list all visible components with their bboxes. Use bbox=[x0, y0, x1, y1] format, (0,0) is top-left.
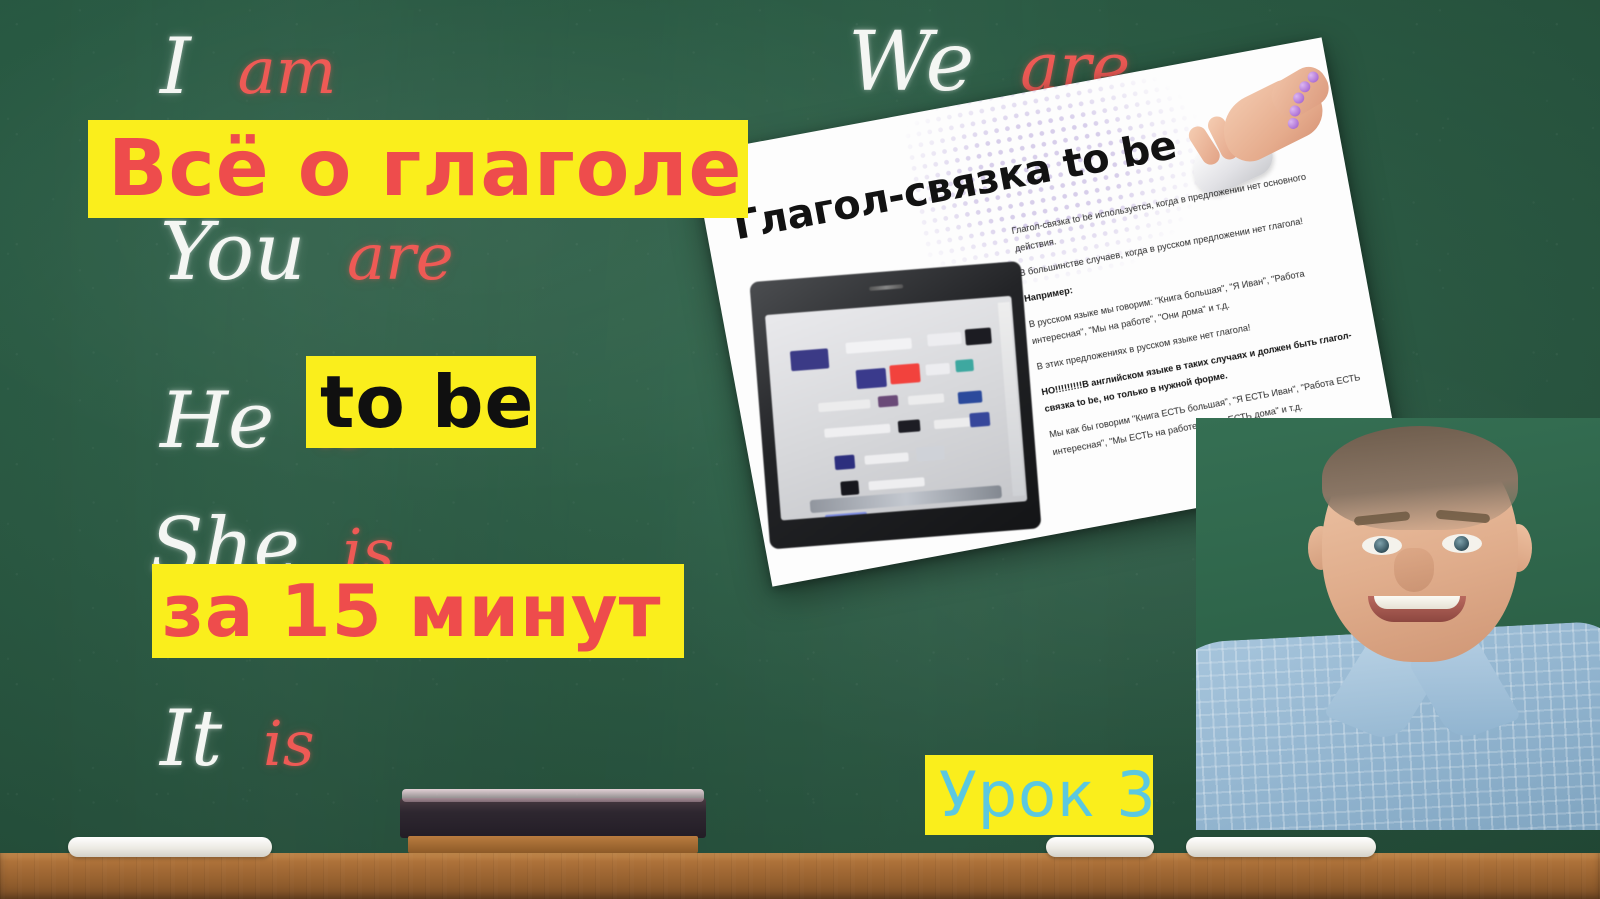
ui-block bbox=[955, 359, 974, 372]
ui-block bbox=[868, 477, 925, 490]
iris-left bbox=[1374, 538, 1389, 553]
verb-banner: to be bbox=[306, 356, 536, 448]
title-banner: Всё о глаголе bbox=[88, 120, 748, 218]
ui-block bbox=[958, 390, 983, 404]
laptop-photo bbox=[749, 261, 1041, 550]
chalk-pronoun: He bbox=[160, 376, 274, 466]
chalk-pronoun: We bbox=[848, 15, 974, 110]
chalk-verb: are bbox=[347, 221, 454, 295]
ui-block bbox=[845, 338, 912, 354]
ui-block bbox=[834, 455, 855, 471]
ui-block bbox=[927, 332, 962, 347]
eraser-wood-handle bbox=[408, 836, 698, 853]
wooden-ledge bbox=[0, 853, 1600, 899]
ui-block bbox=[898, 419, 921, 433]
blackboard-eraser bbox=[400, 791, 706, 853]
eraser-chalk-dust bbox=[402, 789, 704, 802]
chalk-verb: is bbox=[263, 707, 315, 780]
chalk-line-you-are: You are bbox=[160, 212, 454, 292]
duration-banner: за 15 минут bbox=[152, 564, 684, 658]
chalk-pronoun: You bbox=[160, 205, 306, 298]
ui-block bbox=[840, 480, 859, 495]
teeth bbox=[1374, 596, 1460, 609]
ui-block bbox=[889, 363, 920, 384]
chalk-pronoun: I bbox=[160, 22, 191, 112]
duration-text: за 15 минут bbox=[162, 575, 661, 647]
eraser-felt bbox=[400, 798, 706, 838]
chalk-line-it-is: It is bbox=[160, 700, 315, 778]
nose bbox=[1394, 548, 1434, 592]
chalk-stick bbox=[68, 837, 272, 857]
wood-grain bbox=[0, 853, 1600, 899]
lesson-text: Урок 3 bbox=[939, 764, 1157, 826]
ui-block bbox=[878, 395, 899, 408]
ui-block bbox=[969, 412, 990, 428]
chalk-stick bbox=[1186, 837, 1376, 857]
verb-text: to be bbox=[320, 366, 534, 438]
lesson-badge: Урок 3 bbox=[925, 755, 1153, 835]
video-thumbnail: I am We are You are He is She is It is Г… bbox=[0, 0, 1600, 899]
chalk-line-i-am: I am bbox=[160, 28, 336, 106]
smile bbox=[1368, 596, 1466, 622]
iris-right bbox=[1454, 536, 1469, 551]
ui-block bbox=[856, 368, 887, 389]
title-text: Всё о глаголе bbox=[108, 130, 742, 208]
ui-block bbox=[925, 363, 950, 376]
chalk-verb: am bbox=[238, 35, 337, 109]
ui-block bbox=[824, 424, 891, 438]
ui-block bbox=[908, 393, 945, 405]
ui-block bbox=[790, 348, 829, 371]
ui-block bbox=[965, 327, 992, 345]
laptop-screen bbox=[765, 296, 1027, 521]
chalk-stick bbox=[1046, 837, 1154, 857]
ui-block bbox=[916, 446, 945, 462]
example-label: Например: bbox=[1023, 285, 1073, 304]
ui-block bbox=[864, 452, 909, 464]
chalk-pronoun: It bbox=[160, 694, 222, 784]
presenter-photo bbox=[1196, 418, 1600, 830]
ui-block bbox=[818, 399, 871, 412]
